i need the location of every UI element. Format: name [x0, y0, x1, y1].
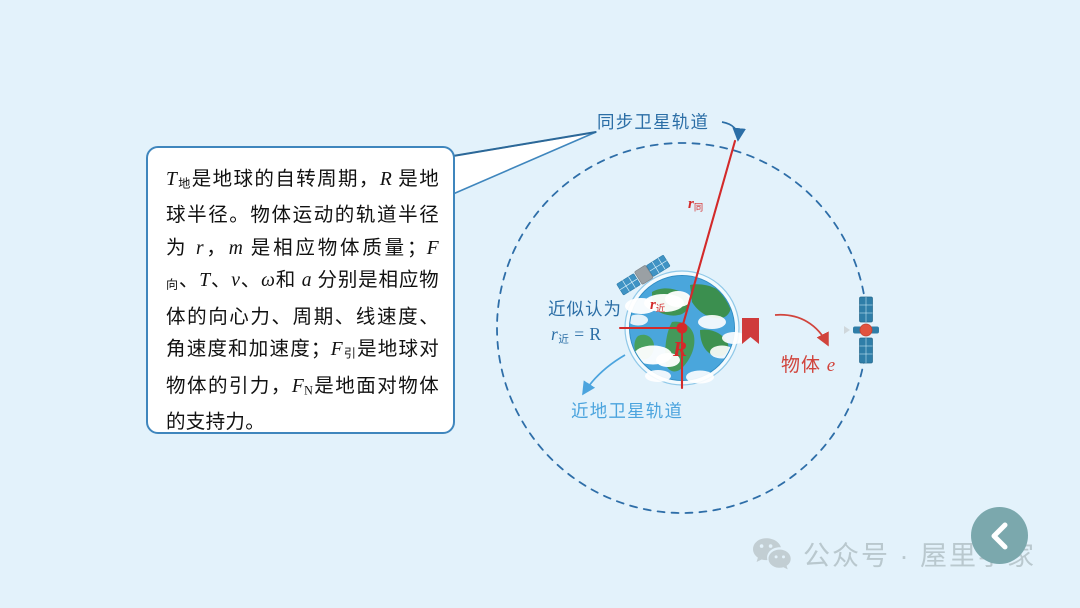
- callout-tail: [453, 132, 596, 194]
- geostationary-orbit-label: 同步卫星轨道: [597, 109, 709, 134]
- object-e-label: 物体 e: [781, 350, 836, 377]
- wechat-icon: [752, 537, 792, 571]
- object-e-pointer-arrow: [775, 315, 828, 345]
- low-earth-orbit-label: 近地卫星轨道: [571, 398, 683, 423]
- geo-orbit-pointer-arrow: [722, 122, 738, 140]
- chevron-left-icon: [987, 522, 1013, 550]
- object-e-symbol: e: [827, 355, 836, 376]
- r-leo-subscript: 近: [656, 304, 665, 314]
- leo-orbit-pointer-arrow: [583, 355, 625, 394]
- equals-R: = R: [569, 324, 601, 344]
- approximation-note-line2: r近 = R: [551, 324, 602, 347]
- callout-text: T地是地球的自转周期，R 是地球半径。物体运动的轨道半径为 r，m 是相应物体质…: [166, 164, 439, 439]
- object-e-text: 物体: [781, 355, 827, 376]
- flag-marker: [742, 318, 759, 344]
- earth-radius-label: R: [673, 337, 687, 362]
- slide-canvas: T地是地球的自转周期，R 是地球半径。物体运动的轨道半径为 r，m 是相应物体质…: [0, 0, 1080, 608]
- approximation-note-line1: 近似认为: [548, 296, 622, 321]
- r-geostationary-label: r同: [688, 196, 703, 213]
- r-geo-subscript: 同: [694, 203, 703, 213]
- geostationary-satellite: [844, 297, 879, 363]
- physics-notes-callout: T地是地球的自转周期，R 是地球半径。物体运动的轨道半径为 r，m 是相应物体质…: [146, 146, 455, 434]
- back-button[interactable]: [971, 507, 1028, 564]
- r-subscript: 近: [558, 335, 569, 346]
- r-low-earth-label: r近: [650, 297, 665, 314]
